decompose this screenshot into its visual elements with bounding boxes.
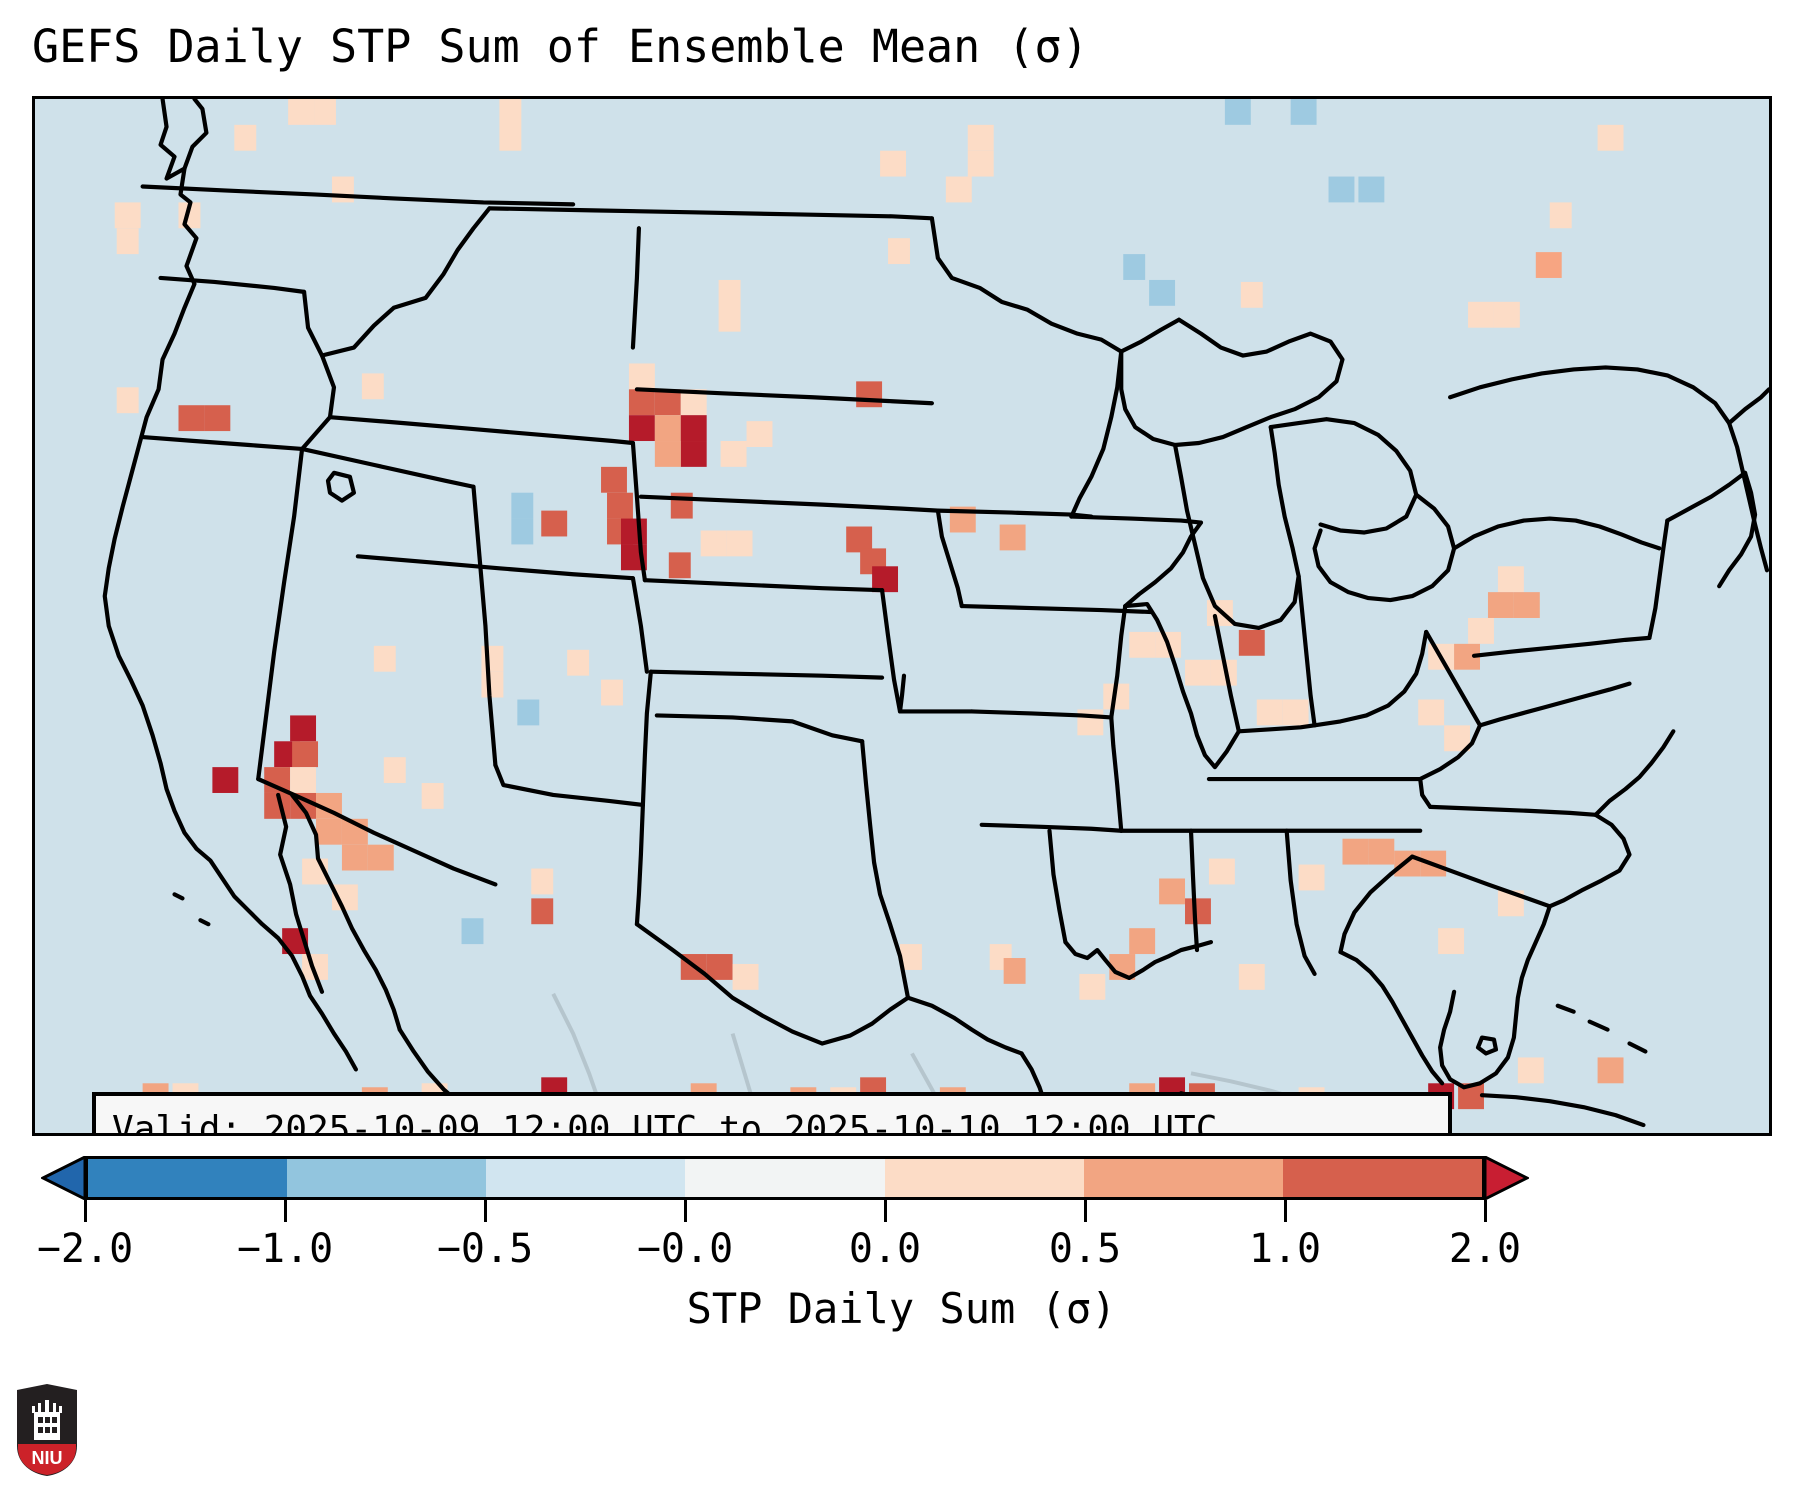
data-cell [511,493,533,519]
data-cell [968,125,994,151]
data-cell [1185,898,1211,924]
data-cell [1550,202,1572,228]
data-cell [1368,839,1394,865]
data-cell [1129,928,1155,954]
valid-time-text: Valid: 2025-10-09 12:00 UTC to 2025-10-1… [112,1106,1432,1136]
data-cell [1241,282,1263,308]
data-cell [1468,618,1494,644]
data-cell [422,783,444,809]
data-cell [655,415,681,441]
data-cell [290,767,316,793]
data-cell [316,819,342,845]
data-cell [1159,878,1185,904]
data-cell [1225,99,1251,125]
data-cell [681,441,707,467]
data-cell [1299,865,1325,891]
colorbar-tick-label: −0.0 [637,1226,733,1272]
data-cell [1488,592,1514,618]
data-cell [629,415,655,441]
data-cell [517,700,539,726]
colorbar-tick-label: 0.5 [1049,1226,1121,1272]
niu-logo-text: NIU [32,1448,63,1468]
colorbar-ticks: −2.0−1.0−0.5−0.00.00.51.02.0 [0,1200,1803,1230]
data-cell [481,672,503,698]
valid-run-infobox: Valid: 2025-10-09 12:00 UTC to 2025-10-1… [92,1092,1452,1136]
data-cell [629,389,655,415]
data-cell [1000,525,1026,551]
data-cell [629,363,655,389]
data-cell [499,99,521,151]
data-cell [1358,177,1384,203]
data-cell [655,441,681,467]
colorbar-axis-label: STP Daily Sum (σ) [0,1284,1803,1333]
data-cell [1209,859,1235,885]
data-cell [290,715,316,741]
colorbar-tick-mark [1484,1200,1487,1222]
data-cell [314,99,336,125]
colorbar-segment [486,1159,685,1197]
data-cell [601,680,623,706]
data-cell [856,381,882,407]
colorbar[interactable] [85,1156,1485,1200]
data-cell [888,238,910,264]
data-cell [1283,700,1309,726]
colorbar-tick-label: 0.0 [849,1226,921,1272]
data-cell [1342,839,1368,865]
data-cell [1329,177,1355,203]
colorbar-tick-mark [1084,1200,1087,1222]
data-cell [1239,630,1265,656]
data-cell [332,177,354,203]
data-cell [747,421,773,447]
data-cell [946,177,972,203]
niu-logo: NIU [14,1382,80,1478]
data-cell [1129,632,1155,658]
colorbar-segment [1084,1159,1283,1197]
data-cell [1494,302,1520,328]
data-cell [541,511,567,537]
colorbar-tick-mark [1284,1200,1287,1222]
data-cell [117,228,139,254]
data-cell [1598,125,1624,151]
data-cell [621,519,647,545]
data-cell [212,767,238,793]
data-cell [179,405,205,431]
data-cell [288,99,314,125]
data-cell [968,151,994,177]
data-cell [204,405,230,431]
data-cell [115,202,141,228]
data-cell [607,493,633,519]
data-cell [701,530,727,556]
data-cell [1123,254,1145,280]
colorbar-tick-mark [284,1200,287,1222]
data-cell [727,530,753,556]
data-cell [669,552,691,578]
data-cell [342,845,368,871]
map-svg [35,99,1769,1133]
data-cell [117,387,139,413]
data-cell [721,441,747,467]
colorbar-tick-mark [684,1200,687,1222]
data-cell [1185,660,1211,686]
data-cell [462,918,484,944]
colorbar-segment [885,1159,1084,1197]
data-cell [362,373,384,399]
data-cell [531,869,553,895]
data-cell [511,519,533,545]
colorbar-over-arrow [1485,1156,1529,1200]
data-cell [1004,958,1026,984]
data-cell [719,280,741,332]
data-cell [1598,1057,1624,1083]
data-cell [1468,302,1494,328]
data-cell [1394,851,1420,877]
data-cell [531,898,553,924]
colorbar-tick-mark [884,1200,887,1222]
data-cell [1536,252,1562,278]
data-cell [1514,592,1540,618]
data-cell [384,757,406,783]
colorbar-segment [1283,1159,1482,1197]
page-title: GEFS Daily STP Sum of Ensemble Mean (σ) [32,16,1772,78]
colorbar-tick-label: −1.0 [237,1226,333,1272]
data-cell [1418,700,1444,726]
colorbar-tick-label: 1.0 [1249,1226,1321,1272]
data-cell [567,650,589,676]
colorbar-segment [88,1159,287,1197]
data-cell [1079,974,1105,1000]
data-cell [601,467,627,493]
colorbar-tick-label: 2.0 [1449,1226,1521,1272]
data-cell [1257,700,1283,726]
data-cell [1518,1057,1544,1083]
data-cell [368,845,394,871]
map-plot-area: Valid: 2025-10-09 12:00 UTC to 2025-10-1… [32,96,1772,1136]
data-cell [707,954,733,980]
data-cell [374,646,396,672]
colorbar-segment [685,1159,884,1197]
colorbar-tick-label: −0.5 [437,1226,533,1272]
data-cell [1498,566,1524,592]
colorbar-segment [287,1159,486,1197]
data-cell [1239,964,1265,990]
colorbar-tick-label: −2.0 [37,1226,133,1272]
data-cell [733,964,759,990]
colorbar-tick-mark [484,1200,487,1222]
colorbar-tick-mark [84,1200,87,1222]
data-cell [681,415,707,441]
colorbar-area: −2.0−1.0−0.5−0.00.00.51.02.0 STP Daily S… [0,1136,1803,1506]
data-cell [880,151,906,177]
data-cell [1149,280,1175,306]
data-cell [1291,99,1317,125]
data-cell [292,741,318,767]
data-cell [234,125,256,151]
data-cell [1438,928,1464,954]
colorbar-under-arrow [41,1156,85,1200]
